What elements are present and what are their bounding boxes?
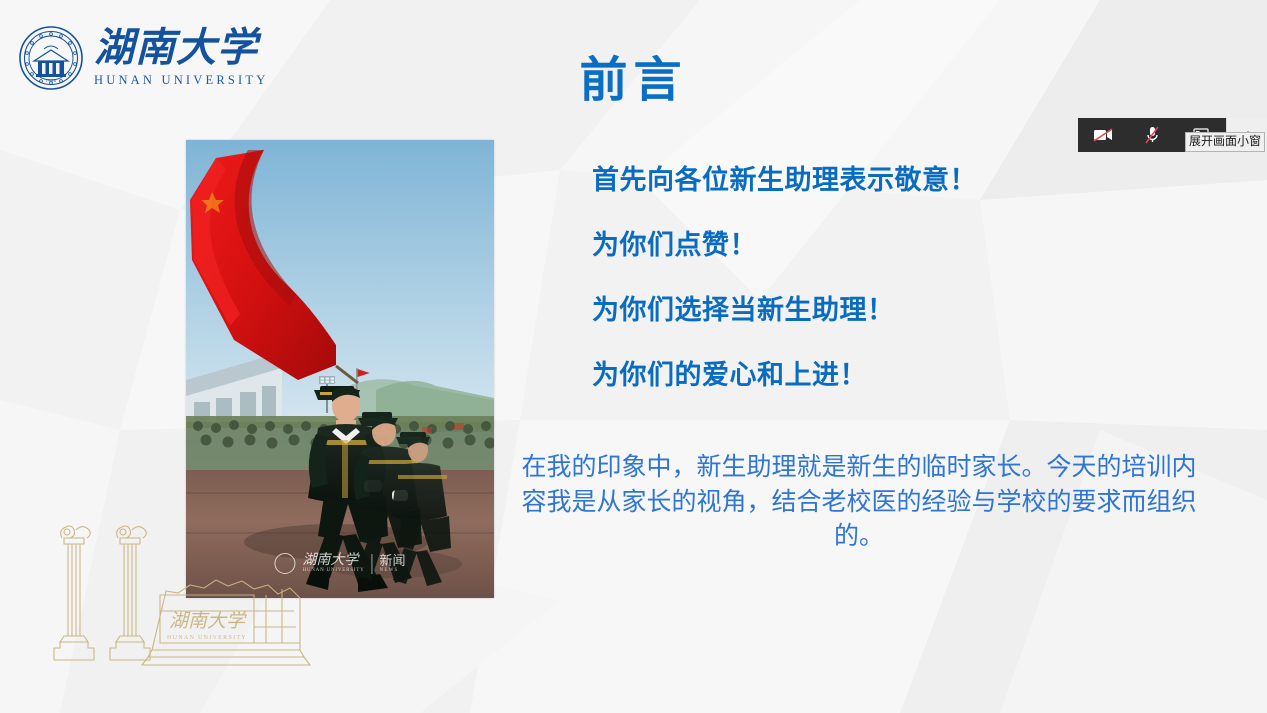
mic-off-icon[interactable] — [1127, 118, 1176, 152]
headline-item: 首先向各位新生助理表示敬意！ — [592, 158, 1152, 197]
watermark-section-english: NEWS — [380, 568, 406, 573]
presentation-slide: 1926 湖南大学 HUNAN UNIVERSITY 前言 — [0, 0, 1267, 713]
monument-chinese-text: 湖南大学 — [169, 610, 247, 632]
zoom-tooltip: 展开画面小窗 — [1185, 132, 1265, 152]
body-paragraph: 在我的印象中，新生助理就是新生的临时家长。今天的培训内容我是从家长的视角，结合老… — [519, 450, 1199, 554]
headline-item: 为你们选择当新生助理！ — [592, 288, 1152, 327]
headline-item: 为你们的爱心和上进！ — [592, 353, 1152, 392]
monument-english-text: HUNAN UNIVERSITY — [167, 635, 247, 641]
page-title: 前言 — [0, 40, 1267, 110]
campus-landmark-decoration: 湖南大学 HUNAN UNIVERSITY — [30, 515, 330, 690]
camera-glyph — [1093, 128, 1113, 142]
microphone-glyph — [1145, 126, 1159, 144]
watermark-divider — [372, 554, 373, 574]
headline-list: 首先向各位新生助理表示敬意！ 为你们点赞！ 为你们选择当新生助理！ 为你们的爱心… — [592, 158, 1152, 418]
video-off-icon[interactable] — [1078, 118, 1127, 152]
watermark-section-chinese: 新闻 — [380, 554, 406, 568]
headline-item: 为你们点赞！ — [592, 223, 1152, 262]
